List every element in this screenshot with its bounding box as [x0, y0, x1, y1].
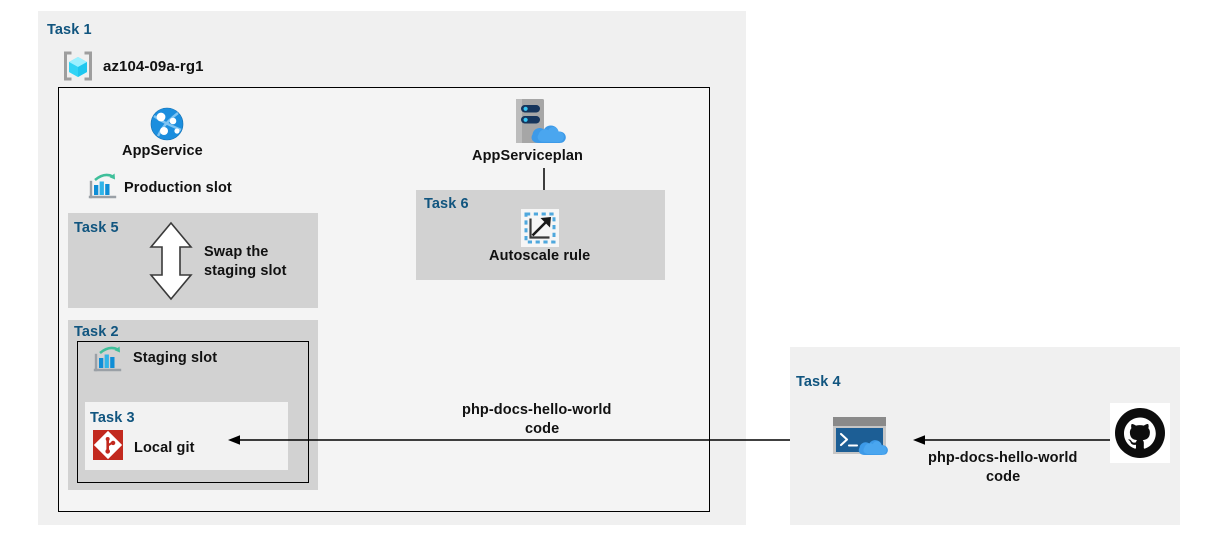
app-service-plan-label: AppServiceplan [472, 148, 583, 164]
local-git-label: Local git [134, 440, 195, 456]
edge-github-to-cloudshell [913, 431, 1121, 449]
staging-slot-label: Staging slot [133, 350, 217, 366]
production-slot-label: Production slot [124, 180, 232, 196]
double-headed-vertical-arrow-icon [146, 221, 196, 301]
edge-label-right-line1: php-docs-hello-world [928, 449, 1077, 468]
swap-action-label-line1: Swap the [204, 243, 268, 262]
autoscale-rule-icon [521, 209, 559, 247]
autoscale-rule-label: Autoscale rule [489, 248, 590, 264]
task6-label: Task 6 [424, 196, 469, 212]
git-logo-icon [93, 430, 123, 460]
edge-label-right-line2: code [986, 468, 1020, 487]
resource-group-cube-icon [61, 49, 95, 83]
edge-cloudshell-to-localgit [228, 431, 818, 449]
github-octocat-icon [1110, 403, 1170, 463]
task2-label: Task 2 [74, 324, 119, 340]
swap-action-label-line2: staging slot [204, 262, 287, 281]
cloud-shell-terminal-icon [832, 415, 900, 459]
edge-label-mid-line1: php-docs-hello-world [462, 401, 611, 420]
task4-label: Task 4 [796, 374, 841, 390]
deployment-slot-icon-staging [93, 346, 123, 374]
task5-label: Task 5 [74, 220, 119, 236]
task3-label: Task 3 [90, 410, 135, 426]
app-service-globe-icon [148, 105, 186, 143]
deployment-slot-icon-production [88, 173, 118, 201]
diagram-canvas: Task 1 az104-09a-rg1 AppService [0, 0, 1218, 545]
app-service-label: AppService [122, 143, 203, 159]
task1-label: Task 1 [47, 22, 92, 38]
app-service-plan-server-cloud-icon [512, 97, 574, 149]
resource-group-label: az104-09a-rg1 [103, 58, 204, 75]
